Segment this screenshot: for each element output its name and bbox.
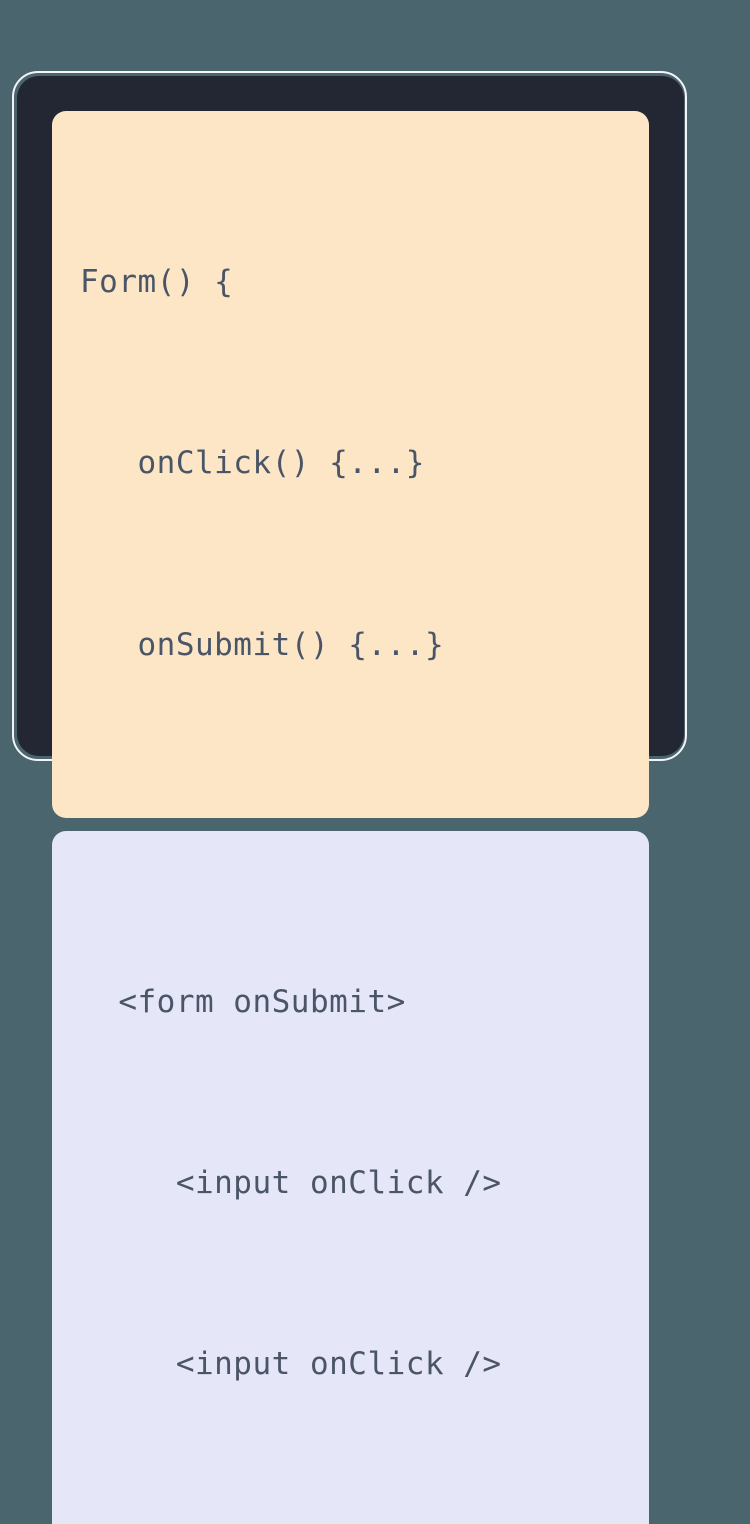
diagram-canvas: Form() { onClick() {...} onSubmit() {...… [0,0,750,762]
code-line: Form() { [80,252,621,312]
code-line: <form onSubmit> [80,972,621,1032]
code-window: Form() { onClick() {...} onSubmit() {...… [17,76,684,756]
code-line: <input onClick /> [80,1153,621,1213]
markup-block: <form onSubmit> <input onClick /> <input… [52,831,649,1524]
function-signature-block: Form() { onClick() {...} onSubmit() {...… [52,111,649,818]
code-line: <input onClick /> [80,1334,621,1394]
code-line: onSubmit() {...} [80,615,621,675]
code-line: </form> [80,1516,621,1524]
code-line: onClick() {...} [80,433,621,493]
